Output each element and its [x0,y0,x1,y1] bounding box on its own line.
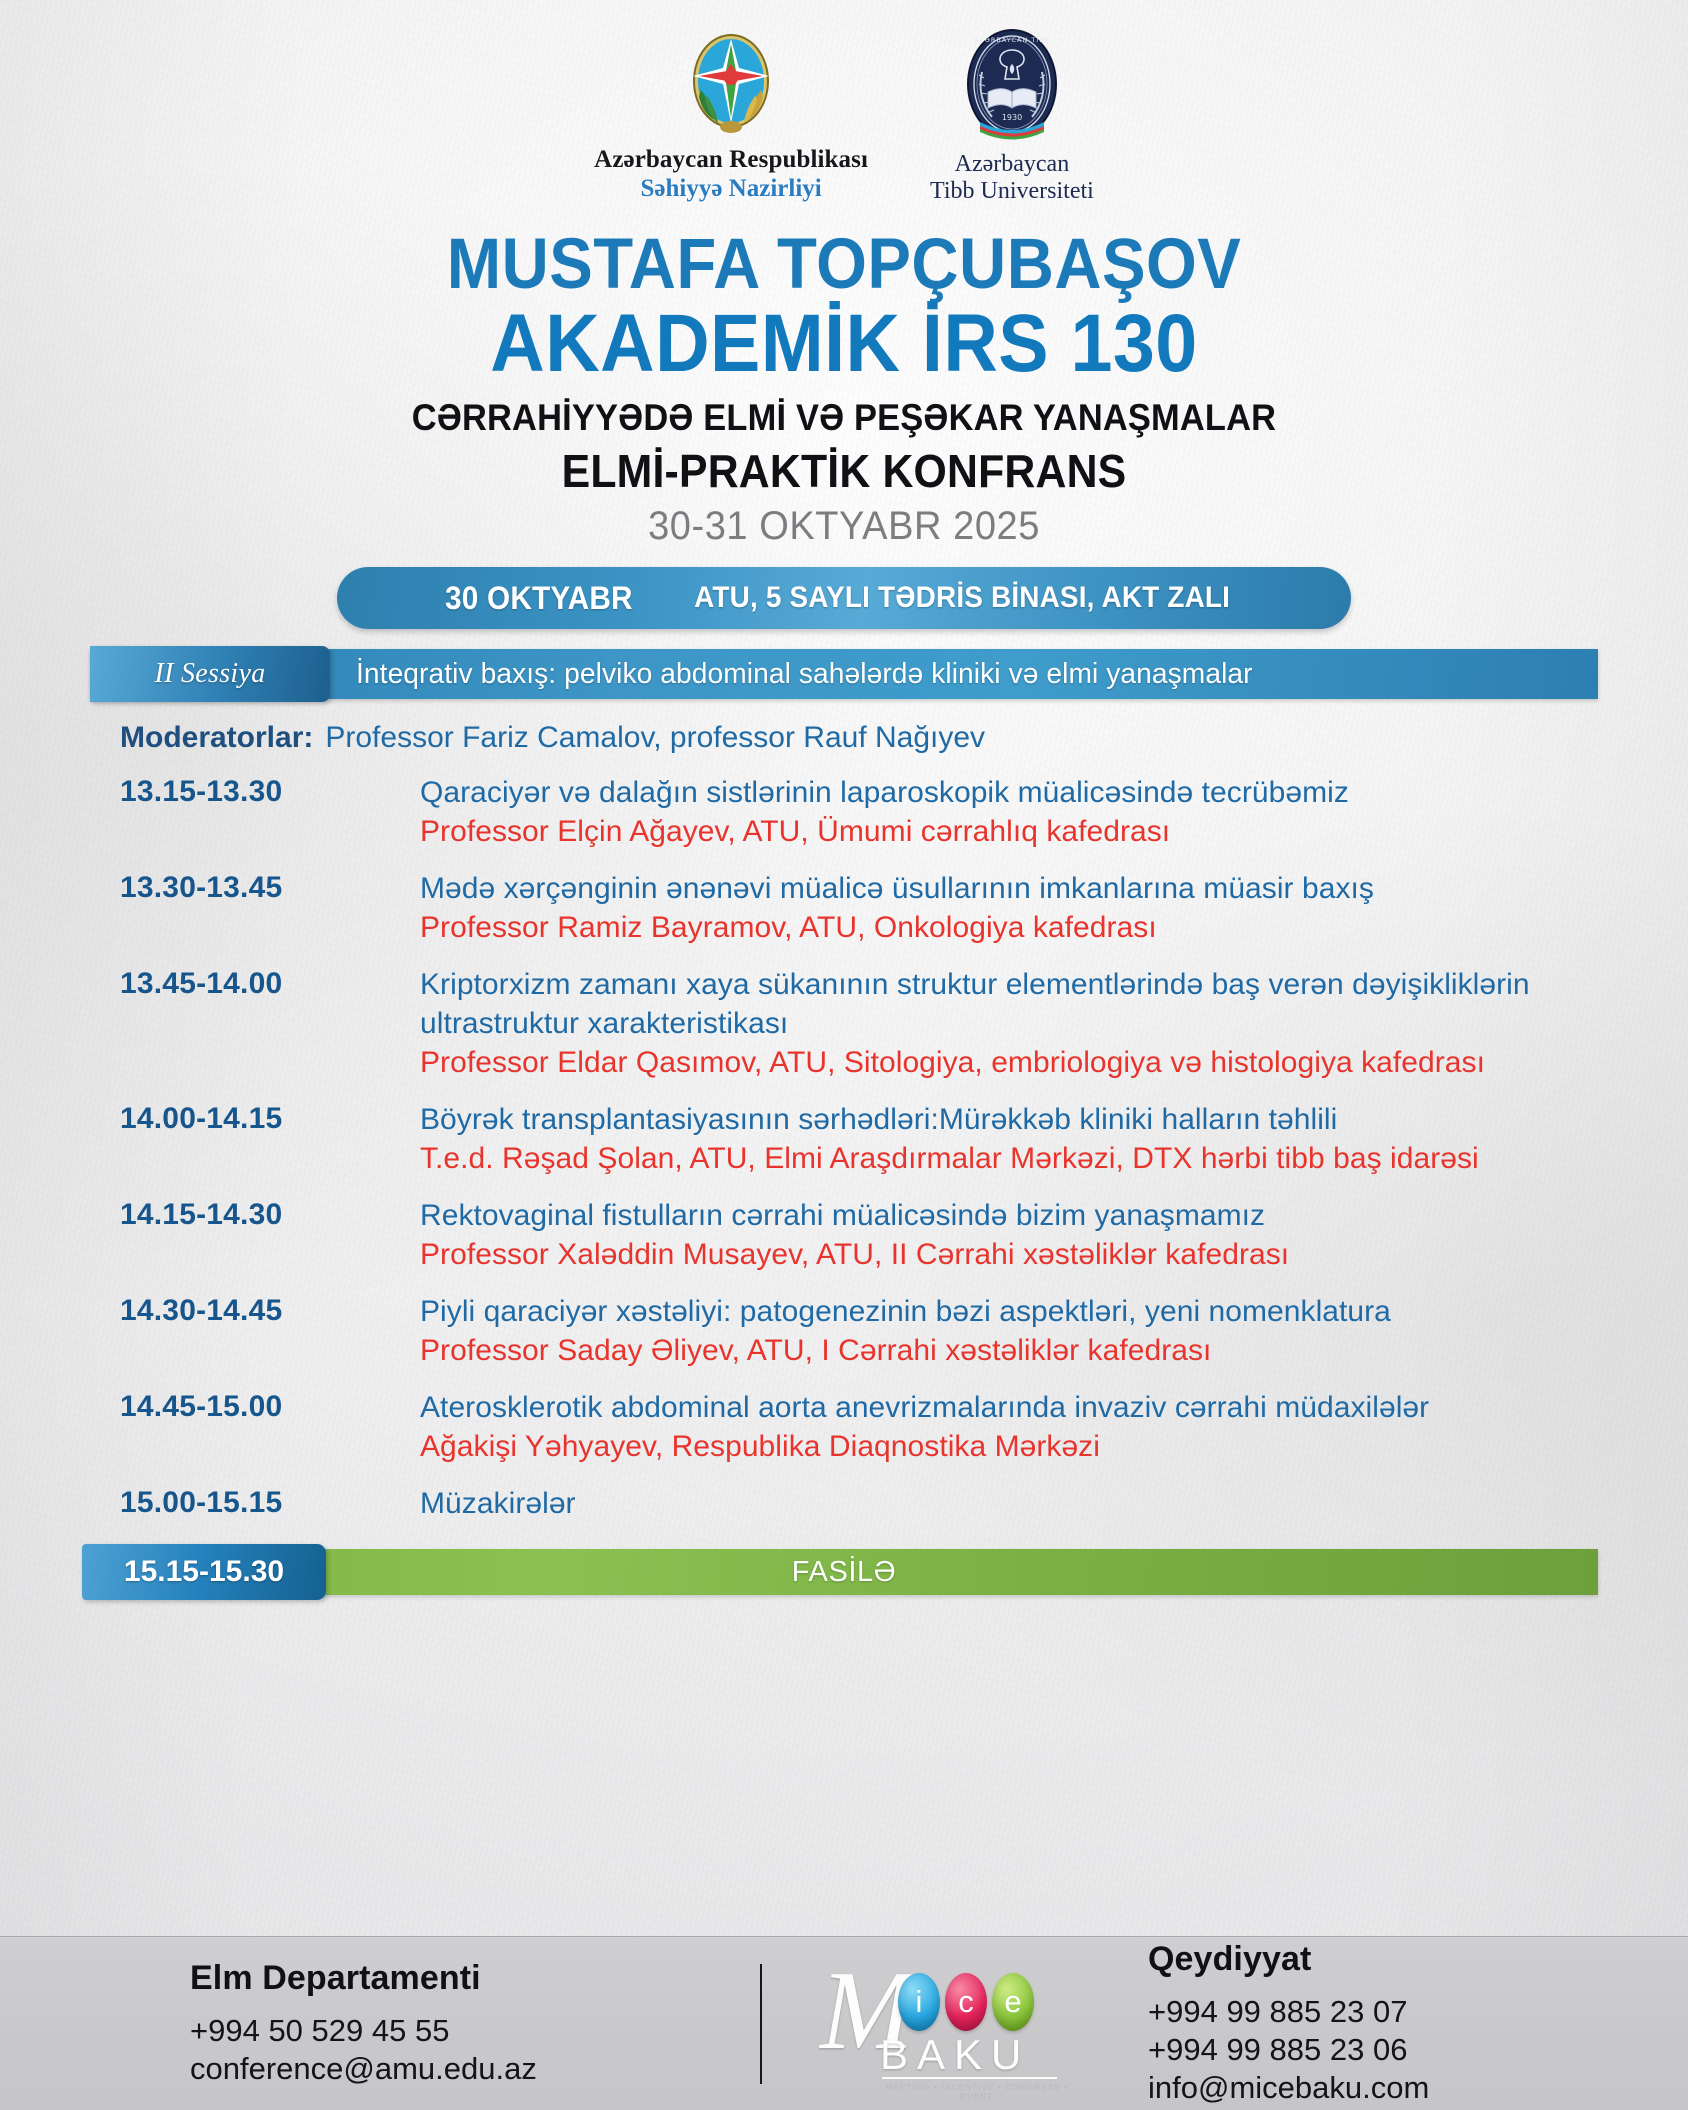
schedule-row: 14.15-14.30 Rektovaginal fistulların cər… [0,1196,1688,1274]
schedule-time: 13.45-14.00 [120,965,420,1082]
schedule-body: Qaraciyər və dalağın sistlərinin laparos… [420,773,1658,851]
title-line-2: AKADEMİK İRS 130 [68,302,1621,386]
venue-day: 30 OKTYABR [445,580,633,617]
venue-pill: 30 OKTYABR ATU, 5 SAYLI TƏDRİS BİNASI, A… [337,567,1351,629]
schedule-speaker: T.e.d. Rəşad Şolan, ATU, Elmi Araşdırmal… [420,1139,1658,1178]
footer-registration-heading: Qeydiyyat [1148,1940,1688,1979]
moderators-label: Moderatorlar: [120,721,313,755]
schedule-time: 14.45-15.00 [120,1388,420,1466]
schedule-row: 13.45-14.00 Kriptorxizm zamanı xaya süka… [0,965,1688,1082]
schedule-speaker: Professor Eldar Qasımov, ATU, Sitologiya… [420,1043,1658,1082]
university-logo-block: 1930 AZƏRBAYCAN TIBB Azərbaycan Tibb Uni… [930,26,1094,205]
schedule-row: 14.30-14.45 Piyli qaraciyər xəstəliyi: p… [0,1292,1688,1370]
session-bar: II Sessiya İnteqrativ baxış: pelviko abd… [90,649,1598,699]
azerbaijan-state-emblem-icon [683,26,779,144]
schedule-body: Böyrək transplantasiyasının sərhədləri:M… [420,1100,1658,1178]
footer-registration-phone-1[interactable]: +994 99 885 23 07 [1148,1993,1688,2031]
break-bar: 15.15-15.30 FASİLƏ [90,1549,1598,1595]
schedule-body: Piyli qaraciyər xəstəliyi: patogenezinin… [420,1292,1658,1370]
session-title: İnteqrativ baxış: pelviko abdominal sahə… [356,658,1253,691]
micebaku-oval-c: c [945,1973,987,2031]
schedule-topic: Qaraciyər və dalağın sistlərinin laparos… [420,773,1658,812]
schedule-row: 14.00-14.15 Böyrək transplantasiyasının … [0,1100,1688,1178]
schedule-time: 13.15-13.30 [120,773,420,851]
moderators-row: Moderatorlar: Professor Fariz Camalov, p… [120,721,1688,755]
micebaku-tagline: MEETING • INCENTIVE • CONGRESS • EVENT [882,2083,1072,2101]
footer-registration-phone-2[interactable]: +994 99 885 23 06 [1148,2031,1688,2069]
university-name-line1: Azərbaycan [955,151,1070,177]
schedule-row: 13.15-13.30 Qaraciyər və dalağın sistlər… [0,773,1688,851]
session-tag-label: II Sessiya [154,658,265,690]
schedule-time: 14.15-14.30 [120,1196,420,1274]
footer-registration-block: Qeydiyyat +994 99 885 23 07 +994 99 885 … [1128,1940,1688,2106]
break-label: FASİLƏ [792,1556,896,1589]
subtitle-1: CƏRRAHİYYƏDƏ ELMİ VƏ PEŞƏKAR YANAŞMALAR [59,397,1629,439]
schedule-topic: Aterosklerotik abdominal aorta anevrizma… [420,1388,1658,1427]
venue-row: 30 OKTYABR ATU, 5 SAYLI TƏDRİS BİNASI, A… [0,567,1688,629]
schedule-topic: Mədə xərçənginin ənənəvi müalicə üsullar… [420,869,1658,908]
schedule-speaker: Professor Xaləddin Musayev, ATU, II Cərr… [420,1235,1658,1274]
schedule-body: Müzakirələr [420,1484,1658,1523]
footer: Elm Departamenti +994 50 529 45 55 confe… [0,1936,1688,2110]
logo-row: Azərbaycan Respublikası Səhiyyə Nazirliy… [0,0,1688,205]
micebaku-ovals: i c e [898,1973,1034,2031]
schedule-row: 13.30-13.45 Mədə xərçənginin ənənəvi müa… [0,869,1688,947]
schedule-topic: Müzakirələr [420,1484,1658,1523]
micebaku-wordmark: BAKU [880,2031,1030,2079]
micebaku-oval-e: e [992,1973,1034,2031]
schedule-speaker: Professor Saday Əliyev, ATU, I Cərrahi x… [420,1331,1658,1370]
footer-department-block: Elm Departamenti +994 50 529 45 55 confe… [0,1959,760,2088]
schedule-speaker: Professor Elçin Ağayev, ATU, Ümumi cərra… [420,812,1658,851]
amu-seal-icon: 1930 AZƏRBAYCAN TIBB [958,26,1066,148]
break-time-badge: 15.15-15.30 [82,1544,326,1600]
title-line-1: MUSTAFA TOPÇUBAŞOV [68,229,1621,300]
schedule-body: Mədə xərçənginin ənənəvi müalicə üsullar… [420,869,1658,947]
subtitle-2: ELMİ-PRAKTİK KONFRANS [59,444,1629,498]
ministry-logo-block: Azərbaycan Respublikası Səhiyyə Nazirliy… [594,26,868,203]
schedule-speaker: Professor Ramiz Bayramov, ATU, Onkologiy… [420,908,1658,947]
footer-department-heading: Elm Departamenti [190,1959,760,1998]
ministry-name-line1: Azərbaycan Respublikası [594,146,868,174]
university-name: Azərbaycan Tibb Universiteti [930,151,1094,205]
schedule-time: 15.00-15.15 [120,1484,420,1523]
footer-department-email[interactable]: conference@amu.edu.az [190,2050,760,2088]
schedule-time: 14.00-14.15 [120,1100,420,1178]
schedule-body: Aterosklerotik abdominal aorta anevrizma… [420,1388,1658,1466]
schedule-body: Rektovaginal fistulların cərrahi müalicə… [420,1196,1658,1274]
footer-logo-block: M i c e BAKU MEETING • INCENTIVE • CONGR… [762,1959,1128,2089]
session-tag: II Sessiya [90,646,330,702]
schedule-topic: Kriptorxizm zamanı xaya sükanının strukt… [420,965,1658,1043]
svg-text:1930: 1930 [1002,113,1022,122]
moderators-names: Professor Fariz Camalov, professor Rauf … [325,721,985,755]
schedule-row: 14.45-15.00 Aterosklerotik abdominal aor… [0,1388,1688,1466]
schedule-row: 15.00-15.15 Müzakirələr [0,1484,1688,1523]
university-name-line2: Tibb Universiteti [930,178,1094,204]
micebaku-oval-i: i [898,1973,940,2031]
micebaku-logo-icon: M i c e BAKU MEETING • INCENTIVE • CONGR… [820,1959,1070,2089]
schedule-time: 14.30-14.45 [120,1292,420,1370]
venue-location: ATU, 5 SAYLI TƏDRİS BİNASI, AKT ZALI [694,581,1230,615]
schedule-topic: Böyrək transplantasiyasının sərhədləri:M… [420,1100,1658,1139]
schedule-body: Kriptorxizm zamanı xaya sükanının strukt… [420,965,1658,1082]
schedule-speaker: Ağakişi Yəhyayev, Respublika Diaqnostika… [420,1427,1658,1466]
micebaku-underline [882,2077,1057,2079]
schedule-time: 13.30-13.45 [120,869,420,947]
conference-dates: 30-31 OKTYABR 2025 [42,504,1646,549]
schedule-list: 13.15-13.30 Qaraciyər və dalağın sistlər… [0,773,1688,1523]
schedule-topic: Rektovaginal fistulların cərrahi müalicə… [420,1196,1658,1235]
svg-text:AZƏRBAYCAN TIBB: AZƏRBAYCAN TIBB [974,36,1050,44]
ministry-name-line2: Səhiyyə Nazirliyi [640,175,821,203]
schedule-topic: Piyli qaraciyər xəstəliyi: patogenezinin… [420,1292,1658,1331]
title-block: MUSTAFA TOPÇUBAŞOV AKADEMİK İRS 130 CƏRR… [0,229,1688,550]
poster-content: Azərbaycan Respublikası Səhiyyə Nazirliy… [0,0,1688,1595]
footer-registration-email[interactable]: info@micebaku.com [1148,2069,1688,2107]
break-time: 15.15-15.30 [124,1555,284,1589]
footer-department-phone[interactable]: +994 50 529 45 55 [190,2012,760,2050]
